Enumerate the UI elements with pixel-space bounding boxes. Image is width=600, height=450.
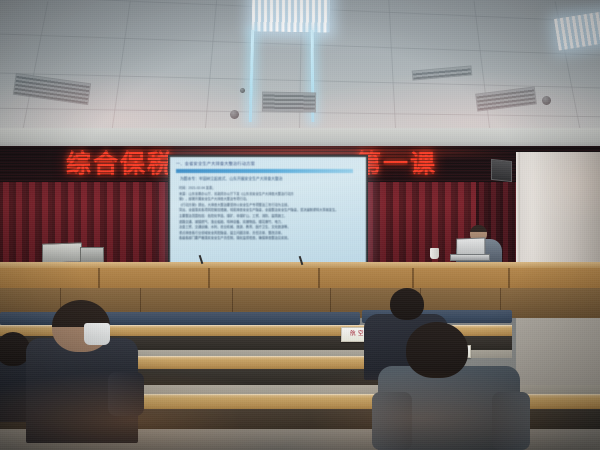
slide-body-line: 来源：山东省委办公厅、省政府办公厅下发《山东省安全生产大排查大整治行动方 xyxy=(179,192,360,196)
slide-body-text: 时间：2021-02-04 发表；来源：山东省委办公厅、省政府办公厅下发《山东省… xyxy=(179,186,360,241)
presentation-slide: 一、金省安全生产大排查大整治行动方案 为题本专：牢固树立起底式、山东开展安全生产… xyxy=(170,157,366,265)
presenter-laptop-base xyxy=(450,254,490,261)
stage-monitor xyxy=(42,242,82,263)
slide-body-line: 冶金工贸、交通运输、水利、农业机械、旅游、教育、医疗卫生、文化旅游等。 xyxy=(179,225,360,229)
stage-monitor-secondary xyxy=(80,247,104,263)
slide-subtitle: 为题本专：牢固树立起底式、山东开展安全生产大排查大整治 xyxy=(180,177,360,182)
attendee-mid-right-head xyxy=(390,288,424,320)
attendee-front-right-head xyxy=(406,322,468,378)
nameplate-text: 航 空 xyxy=(350,332,364,338)
led-banner-text-left: 综合保税 xyxy=(66,150,174,178)
slide-title: 一、金省安全生产大排查大整治行动方案 xyxy=(176,161,360,167)
slide-body-line: 突出、全面落实各项风险管控措施，彻底排查安全生产隐患，全面整治安全生产隐患，坚决… xyxy=(179,208,360,212)
wall-speaker xyxy=(491,159,512,182)
slide-divider-bar xyxy=(176,169,353,173)
slide-body-line: 各级各部门要严格落实安全生产责任制，强化监督检查，确保排查整治见实效。 xyxy=(179,236,360,240)
attendee-front-left-arm xyxy=(108,372,144,416)
led-banner-text-right: 第一课 xyxy=(356,150,437,178)
presenter-cup xyxy=(430,248,439,259)
slide-body-line: 时间：2021-02-04 发表； xyxy=(179,186,360,190)
projection-screen: 一、金省安全生产大排查大整治行动方案 为题本专：牢固树立起底式、山东开展安全生产… xyxy=(168,155,368,267)
slide-body-line: 主要整治范围包括：危险化学品、煤矿、非煤矿山、工贸、消防、建筑施工、 xyxy=(179,214,360,218)
slide-body-line: 案》，部署开展安全生产大排查大整治专项行动。 xyxy=(179,197,360,201)
attendee-front-left-face-mask xyxy=(84,323,110,345)
attendee-front-right-arm-left xyxy=(372,392,412,450)
slide-body-line: 道路交通、城镇燃气、渔业船舶、特种设备、民爆物品、烟花爆竹、电力、 xyxy=(179,220,360,224)
conference-hall-photo: 综合保税 第一课 一、金省安全生产大排查大整治行动方案 为题本专：牢固树立起底式… xyxy=(0,0,600,450)
slide-body-line: 重点排查各行业领域安全风险隐患，建立问题清单、责任清单、整改清单。 xyxy=(179,231,360,235)
slide-body-line: 《行动方案》提出，大排查大整治要坚持以安全生产专项整治三年行动为主线， xyxy=(179,203,360,207)
attendee-front-right-arm-right xyxy=(492,392,530,450)
